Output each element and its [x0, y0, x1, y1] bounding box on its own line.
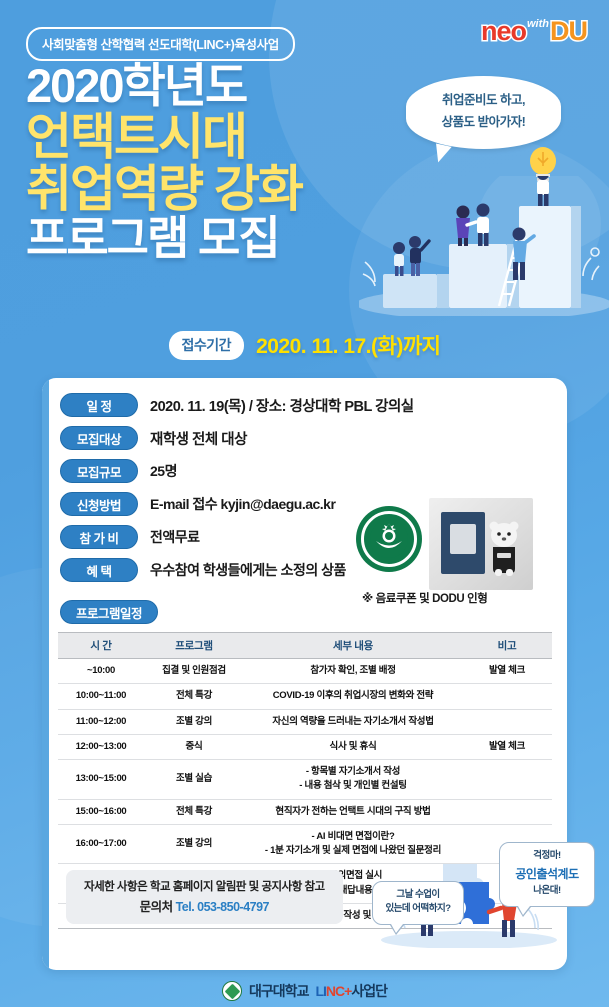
figure-4	[467, 204, 490, 247]
table-row: 12:00~13:00 중식 식사 및 휴식 발열 체크	[58, 734, 552, 759]
cell-time: 12:00~13:00	[58, 734, 144, 759]
people-climbing-steps-illustration	[359, 176, 609, 316]
content-card: 일 정 2020. 11. 19(목) / 장소: 경상대학 PBL 강의실 모…	[42, 378, 567, 970]
linc-logo-part-a: LI	[315, 983, 325, 999]
cell-detail: 현직자가 전하는 언택트 시대의 구직 방법	[244, 799, 462, 824]
cell-program: 중식	[144, 734, 244, 759]
info-label-fee: 참 가 비	[60, 525, 138, 549]
cell-time: ~10:00	[58, 659, 144, 684]
cell-detail: - 항목별 자기소개서 작성 - 내용 첨삭 및 개인별 컨설팅	[244, 760, 462, 800]
table-row: 10:00~11:00 전체 특강 COVID-19 이후의 취업시장의 변화와…	[58, 684, 552, 709]
bottom-left-speech-bubble: 그날 수업이 있는데 어떡하지?	[372, 881, 464, 925]
info-value-target: 재학생 전체 대상	[150, 428, 247, 449]
cell-program: 전체 특강	[144, 799, 244, 824]
table-row: 11:00~12:00 조별 강의 자신의 역량을 드러내는 자기소개서 작성법	[58, 709, 552, 734]
figure-2	[409, 236, 429, 276]
cell-time: 10:00~11:00	[58, 684, 144, 709]
dodu-tiger-doll-icon	[484, 520, 524, 578]
starbucks-logo-inner	[361, 511, 417, 567]
cell-detail: 자신의 역량을 드러내는 자기소개서 작성법	[244, 709, 462, 734]
dodu-gift-box	[441, 512, 485, 574]
cell-detail: 식사 및 휴식	[244, 734, 462, 759]
program-badge: 사회맞춤형 산학협력 선도대학(LINC+)육성사업	[26, 27, 295, 61]
deadline-tag: 접수기간	[169, 331, 245, 360]
bottom-right-bubble-line-1: 걱정마!	[533, 850, 560, 861]
contact-line-2: 문의처 Tel. 053-850-4797	[84, 896, 325, 915]
top-speech-bubble: 취업준비도 하고, 상품도 받아가자!	[406, 76, 561, 149]
info-label-capacity: 모집규모	[60, 459, 138, 483]
info-label-apply-method: 신청방법	[60, 492, 138, 516]
bottom-right-bubble-line-3: 나온대!	[533, 885, 560, 896]
cell-program: 조별 실습	[144, 760, 244, 800]
cell-note	[462, 684, 552, 709]
bottom-right-speech-bubble: 걱정마! 공인출석계도 나온대!	[499, 842, 595, 907]
daegu-university-seal-icon	[222, 981, 242, 1001]
dodu-box-window	[450, 524, 476, 554]
neo-logo-text: neo	[481, 18, 526, 45]
prize-note: ※ 음료쿠폰 및 DODU 인형	[362, 590, 487, 606]
info-value-schedule: 2020. 11. 19(목) / 장소: 경상대학 PBL 강의실	[150, 395, 414, 416]
column-header-detail: 세부 내용	[244, 633, 462, 659]
table-header-row: 시 간 프로그램 세부 내용 비고	[58, 633, 552, 659]
cell-time: 13:00~15:00	[58, 760, 144, 800]
table-row: 15:00~16:00 전체 특강 현직자가 전하는 언택트 시대의 구직 방법	[58, 799, 552, 824]
cell-note	[462, 799, 552, 824]
card-left-stripe	[42, 378, 49, 970]
neo-logo-with-text: with	[527, 19, 549, 30]
cell-note	[462, 709, 552, 734]
dodu-doll-photo	[429, 498, 533, 590]
prize-images: ※ 음료쿠폰 및 DODU 인형	[350, 498, 555, 608]
neo-logo-du-text: DU	[550, 18, 587, 45]
info-row: 모집대상 재학생 전체 대상	[60, 425, 553, 451]
cell-note: 발열 체크	[462, 734, 552, 759]
cell-program: 조별 강의	[144, 709, 244, 734]
cell-program: 집결 및 인원점검	[144, 659, 244, 684]
column-header-note: 비고	[462, 633, 552, 659]
cell-time: 11:00~12:00	[58, 709, 144, 734]
info-value-capacity: 25명	[150, 461, 177, 481]
top-bubble-line-2: 상품도 받아가자!	[416, 112, 551, 134]
info-label-benefit: 혜 택	[60, 558, 138, 582]
cell-time: 16:00~17:00	[58, 824, 144, 864]
starbucks-siren-icon	[369, 519, 409, 559]
deadline-text: 2020. 11. 17.(화)까지	[256, 330, 440, 360]
linc-logo-part-c: 사업단	[351, 983, 387, 999]
poster-title: 2020학년도 언택트시대 취업역량 강화 프로그램 모집	[26, 62, 302, 263]
cell-detail: COVID-19 이후의 취업시장의 변화와 전략	[244, 684, 462, 709]
info-label-schedule: 일 정	[60, 393, 138, 417]
linc-logo-part-b: NC+	[326, 983, 351, 999]
table-row: ~10:00 집결 및 인원점검 참가자 확인, 조별 배정 발열 체크	[58, 659, 552, 684]
schedule-heading-pill: 프로그램일정	[60, 600, 158, 624]
contact-line-1: 자세한 사항은 학교 홈페이지 알림판 및 공지사항 참고	[84, 878, 325, 894]
title-line-1: 2020학년도	[26, 62, 302, 111]
footer-university-name: 대구대학교	[249, 981, 308, 1001]
table-row: 13:00~15:00 조별 실습 - 항목별 자기소개서 작성 - 내용 첨삭…	[58, 760, 552, 800]
info-value-apply-method: E-mail 접수 kyjin@daegu.ac.kr	[150, 494, 335, 514]
cell-time: 15:00~16:00	[58, 799, 144, 824]
top-bubble-line-1: 취업준비도 하고,	[416, 90, 551, 112]
poster-root: 사회맞춤형 산학협력 선도대학(LINC+)육성사업 neo with DU 2…	[0, 0, 609, 1007]
cell-detail: 참가자 확인, 조별 배정	[244, 659, 462, 684]
column-header-time: 시 간	[58, 633, 144, 659]
title-line-4: 프로그램 모집	[26, 215, 302, 263]
cell-note	[462, 760, 552, 800]
info-row: 모집규모 25명	[60, 458, 553, 484]
deadline-row: 접수기간 2020. 11. 17.(화)까지	[0, 330, 609, 360]
daegu-university-seal-inner	[224, 983, 240, 999]
info-row: 일 정 2020. 11. 19(목) / 장소: 경상대학 PBL 강의실	[60, 392, 553, 418]
info-value-fee: 전액무료	[150, 527, 200, 547]
contact-telephone[interactable]: Tel. 053-850-4797	[176, 900, 269, 914]
cell-program: 조별 강의	[144, 824, 244, 864]
contact-prefix: 문의처	[140, 900, 176, 914]
cell-program: 전체 특강	[144, 684, 244, 709]
title-line-3: 취업역량 강화	[26, 163, 302, 215]
bottom-right-bubble-line-2: 공인출석계도	[509, 865, 585, 884]
cell-note: 발열 체크	[462, 659, 552, 684]
title-line-2: 언택트시대	[26, 111, 302, 163]
figure-1	[393, 242, 405, 276]
linc-plus-logo: LINC+사업단	[315, 981, 387, 1001]
column-header-program: 프로그램	[144, 633, 244, 659]
neo-with-du-logo: neo with DU	[481, 18, 587, 45]
starbucks-logo-icon	[356, 506, 422, 572]
info-value-benefit: 우수참여 학생들에게는 소정의 상품	[150, 560, 346, 580]
bottom-left-bubble-text: 그날 수업이 있는데 어떡하지?	[385, 889, 450, 915]
contact-box: 자세한 사항은 학교 홈페이지 알림판 및 공지사항 참고 문의처 Tel. 0…	[66, 870, 343, 924]
footer-logo-bar: 대구대학교 LINC+사업단	[0, 981, 609, 1001]
info-label-target: 모집대상	[60, 426, 138, 450]
